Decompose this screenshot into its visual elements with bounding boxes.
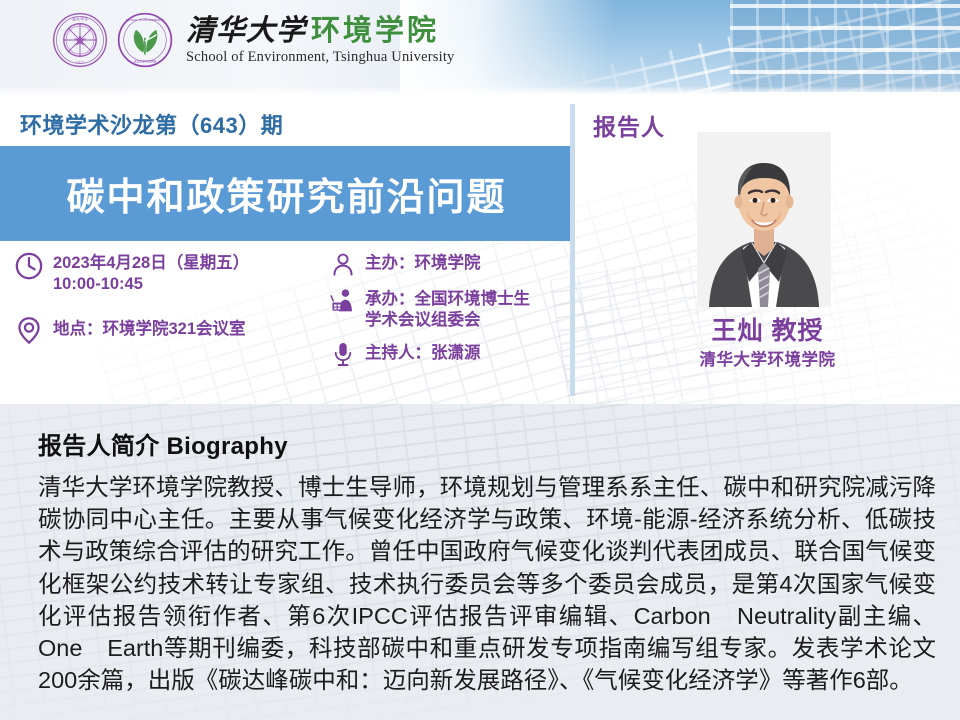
host-org-row: 主办：环境学院 <box>330 251 570 277</box>
university-name-en: School of Environment, Tsinghua Universi… <box>186 50 455 65</box>
biography-section: 报告人简介 Biography 清华大学环境学院教授、博士生导师，环境规划与管理… <box>0 404 960 720</box>
meta-column-left: 2023年4月28日（星期五） 10:00-10:45 地点：环境学院321会议… <box>14 251 344 355</box>
event-title: 碳中和政策研究前沿问题 <box>66 166 506 221</box>
speaker-name: 王灿 教授 <box>575 311 960 347</box>
meta-grid: 2023年4月28日（星期五） 10:00-10:45 地点：环境学院321会议… <box>0 251 570 401</box>
speaker-column: 报告人 <box>575 96 960 404</box>
school-name-cn: 环境学院 <box>311 16 439 45</box>
university-name-cn: 清华大学 <box>186 16 306 45</box>
university-wordmark: 清华大学 环境学院 School of Environment, Tsinghu… <box>186 16 455 65</box>
event-info-section: 环境学术沙龙第（643）期 碳中和政策研究前沿问题 2023年4月28日（星期五… <box>0 96 960 404</box>
meta-column-right: 主办：环境学院 承办：全国环境博士生 <box>330 251 570 377</box>
organizer-row: 承办：全国环境博士生 学术会议组委会 <box>330 287 570 331</box>
svg-text:1911: 1911 <box>75 61 84 65</box>
location-pin-icon <box>14 315 44 345</box>
speaker-section-label: 报告人 <box>593 108 665 142</box>
issue-line: 环境学术沙龙第（643）期 <box>20 108 283 140</box>
svg-text:清华大学环境学院: 清华大学环境学院 <box>134 59 157 63</box>
header-bottom-fade <box>0 86 960 96</box>
organizer-text: 承办：全国环境博士生 学术会议组委会 <box>365 287 530 331</box>
svg-text:SCHOOL OF ENVIRONMENT: SCHOOL OF ENVIRONMENT <box>126 18 164 22</box>
title-banner: 碳中和政策研究前沿问题 <box>0 146 573 241</box>
presenter-icon <box>330 287 356 313</box>
host-org-text: 主办：环境学院 <box>365 251 481 274</box>
school-of-environment-logo: SCHOOL OF ENVIRONMENT 清华大学环境学院 <box>117 12 173 68</box>
event-details-column: 环境学术沙龙第（643）期 碳中和政策研究前沿问题 2023年4月28日（星期五… <box>0 96 570 404</box>
speaker-affiliation: 清华大学环境学院 <box>575 346 960 370</box>
clock-icon <box>14 251 44 281</box>
poster-header: 清大华学 1911 SCHOOL OF ENVIRONMENT 清华大学环境学院… <box>0 0 960 96</box>
column-divider <box>570 104 575 396</box>
logo-group: 清大华学 1911 SCHOOL OF ENVIRONMENT 清华大学环境学院… <box>52 12 455 68</box>
datetime-text: 2023年4月28日（星期五） 10:00-10:45 <box>53 251 249 295</box>
header-glass-tower <box>730 0 960 96</box>
datetime-row: 2023年4月28日（星期五） 10:00-10:45 <box>14 251 344 295</box>
biography-heading: 报告人简介 Biography <box>38 426 936 461</box>
seminar-poster: 清大华学 1911 SCHOOL OF ENVIRONMENT 清华大学环境学院… <box>0 0 960 720</box>
moderator-row: 主持人：张潇源 <box>330 341 570 367</box>
location-row: 地点：环境学院321会议室 <box>14 315 344 345</box>
speaker-portrait <box>697 132 831 307</box>
header-building-photo <box>400 0 960 96</box>
moderator-text: 主持人：张潇源 <box>365 341 481 364</box>
svg-text:清大华学: 清大华学 <box>72 15 89 22</box>
tsinghua-seal-logo: 清大华学 1911 <box>52 12 108 68</box>
person-icon <box>330 251 356 277</box>
microphone-icon <box>330 341 356 367</box>
location-text: 地点：环境学院321会议室 <box>53 315 246 340</box>
biography-text: 清华大学环境学院教授、博士生导师，环境规划与管理系系主任、碳中和研究院减污降碳协… <box>38 471 936 696</box>
